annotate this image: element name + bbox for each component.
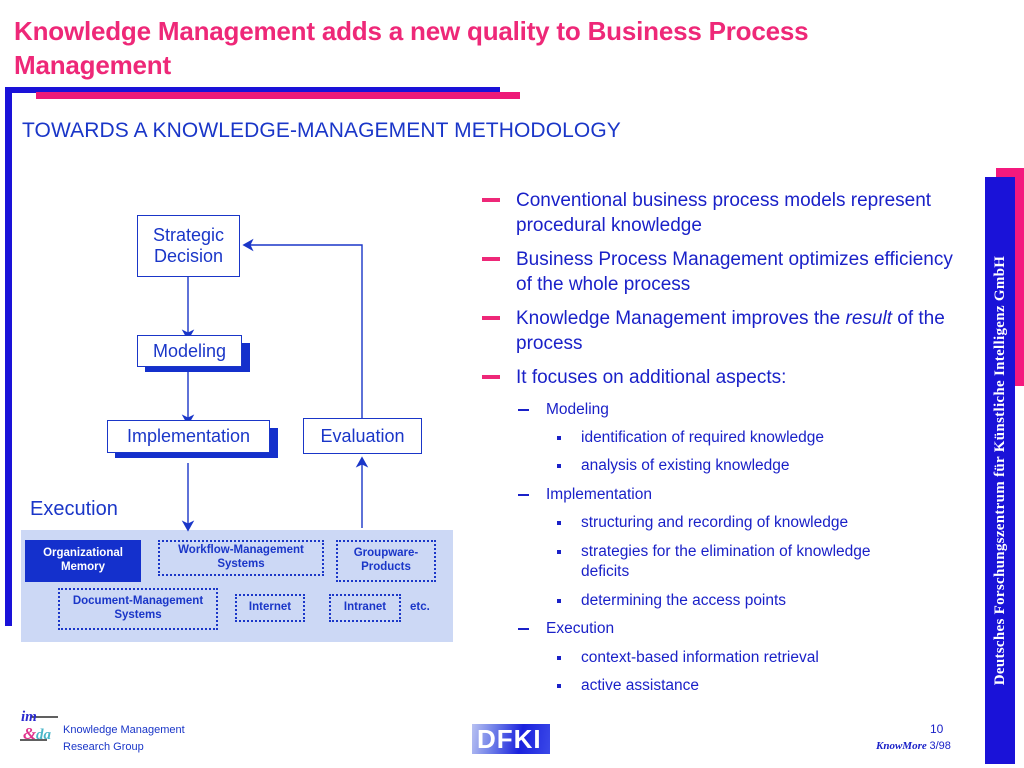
project-name: KnowMore <box>876 740 927 752</box>
chip-internet[interactable]: Internet <box>235 594 305 622</box>
dash-bullet-icon <box>482 198 500 202</box>
svg-text:DFKI: DFKI <box>477 724 542 754</box>
dash-bullet-icon <box>482 375 500 379</box>
bullet-text: Business Process Management optimizes ef… <box>516 249 953 295</box>
sub-sub-bullet-text: identification of required knowledge <box>581 429 824 446</box>
dash-subbullet-icon <box>518 494 529 496</box>
sub-sub-bullet-item: identification of required knowledge <box>478 428 968 448</box>
project-tag: KnowMore 3/98 <box>876 740 951 752</box>
dash-bullet-icon <box>482 316 500 320</box>
chip-etc: etc. <box>410 601 430 613</box>
sub-bullet-item: Modeling <box>478 400 968 420</box>
dot-bullet-icon <box>557 550 561 554</box>
sub-sub-bullet-text: active assistance <box>581 677 699 694</box>
sub-sub-bullet-text: strategies for the elimination of knowle… <box>581 543 871 580</box>
sub-sub-bullet-item: strategies for the elimination of knowle… <box>478 542 916 583</box>
node-implementation[interactable]: Implementation <box>107 420 270 453</box>
dfki-sidebar: Deutsches Forschungszentrum für Künstlic… <box>985 177 1015 764</box>
footer-line-2: Research Group <box>63 739 185 756</box>
sub-sub-bullet-text: context-based information retrieval <box>581 649 819 666</box>
svg-text:im: im <box>21 709 37 725</box>
section-heading: TOWARDS A KNOWLEDGE-MANAGEMENT METHODOLO… <box>22 119 621 143</box>
sub-bullet-item: Execution <box>478 619 968 639</box>
project-date: 3/98 <box>930 740 951 752</box>
node-evaluation[interactable]: Evaluation <box>303 418 422 454</box>
svg-text:&: & <box>23 724 37 743</box>
title-rule-pink <box>36 92 520 99</box>
bullet-text-italic: result <box>846 308 892 329</box>
dot-bullet-icon <box>557 684 561 688</box>
bullet-list: Conventional business process models rep… <box>478 188 968 697</box>
sub-sub-bullet-item: determining the access points <box>478 591 968 611</box>
bullet-item: Knowledge Management improves the result… <box>478 306 968 356</box>
sub-bullet-text: Implementation <box>546 486 652 503</box>
page-number: 10 <box>930 722 943 736</box>
dot-bullet-icon <box>557 436 561 440</box>
page-title: Knowledge Management adds a new quality … <box>14 14 944 83</box>
sub-sub-bullet-item: analysis of existing knowledge <box>478 456 968 476</box>
sub-sub-bullet-text: structuring and recording of knowledge <box>581 514 848 531</box>
arrow-evaluation-to-decision <box>248 245 362 418</box>
chip-groupware-products[interactable]: Groupware-Products <box>336 540 436 582</box>
bullet-text: Knowledge Management improves the <box>516 308 846 329</box>
node-strategic-decision[interactable]: StrategicDecision <box>137 215 240 277</box>
chip-document-management-systems[interactable]: Document-ManagementSystems <box>58 588 218 630</box>
chip-workflow-management-systems[interactable]: Workflow-ManagementSystems <box>158 540 324 576</box>
chip-organizational-memory[interactable]: OrganizationalMemory <box>25 540 141 582</box>
sub-sub-bullet-text: determining the access points <box>581 592 786 609</box>
sub-sub-bullet-item: structuring and recording of knowledge <box>478 513 968 533</box>
node-modeling[interactable]: Modeling <box>137 335 242 367</box>
sub-bullet-text: Modeling <box>546 401 609 418</box>
chip-intranet[interactable]: Intranet <box>329 594 401 622</box>
sub-bullet-item: Implementation <box>478 485 968 505</box>
dfki-logo-icon: DFKI <box>472 724 550 754</box>
dash-bullet-icon <box>482 257 500 261</box>
dot-bullet-icon <box>557 599 561 603</box>
dot-bullet-icon <box>557 464 561 468</box>
sub-sub-bullet-text: analysis of existing knowledge <box>581 457 790 474</box>
process-flow-diagram: StrategicDecision Modeling Implementatio… <box>0 180 470 660</box>
sub-sub-bullet-item: active assistance <box>478 676 968 696</box>
bullet-text: It focuses on additional aspects: <box>516 367 786 388</box>
dash-subbullet-icon <box>518 628 529 630</box>
bullet-item: Business Process Management optimizes ef… <box>478 247 968 297</box>
dfki-sidebar-label: Deutsches Forschungszentrum für Künstlic… <box>985 177 1015 764</box>
bullet-text: Conventional business process models rep… <box>516 190 931 236</box>
imda-logo-icon: im & da <box>15 707 63 749</box>
footer-line-1: Knowledge Management <box>63 722 185 739</box>
bullet-item: Conventional business process models rep… <box>478 188 968 238</box>
dot-bullet-icon <box>557 656 561 660</box>
dash-subbullet-icon <box>518 409 529 411</box>
sub-bullet-text: Execution <box>546 620 614 637</box>
research-group-footer: Knowledge Management Research Group <box>63 722 185 755</box>
sub-sub-bullet-item: context-based information retrieval <box>478 648 968 668</box>
svg-text:da: da <box>36 727 52 743</box>
bullet-item: It focuses on additional aspects: <box>478 365 968 390</box>
dot-bullet-icon <box>557 521 561 525</box>
slide: Knowledge Management adds a new quality … <box>0 0 1024 768</box>
